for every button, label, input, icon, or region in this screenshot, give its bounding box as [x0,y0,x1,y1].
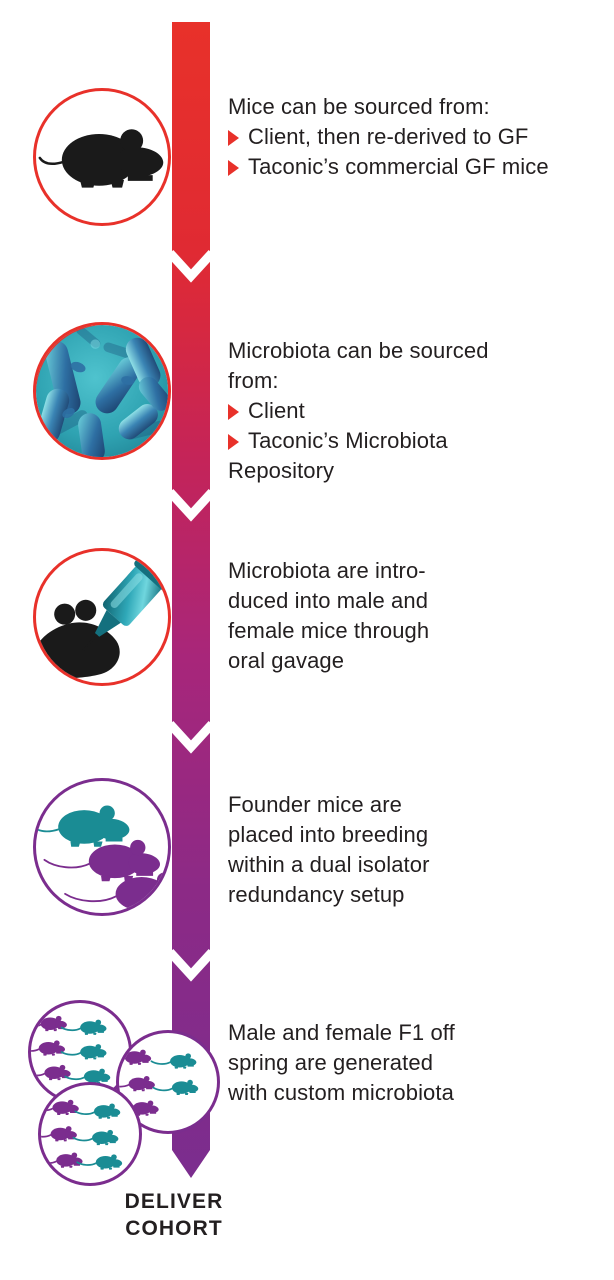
step-2-heading-line-1: Microbiota can be sourced [228,336,600,366]
triangle-bullet-icon [228,160,239,176]
step-2-bullet-1-label: Client [248,396,305,426]
caption-line-2: COHORT [0,1215,348,1242]
step-2-bullet-1: Client [228,396,600,426]
step-2-text: Microbiota can be sourced from: Client T… [228,336,600,486]
step-3-line-2: duced into male and [228,586,600,616]
triangle-bullet-icon [228,404,239,420]
step-5-line-1: Male and female F1 off [228,1018,600,1048]
step-4-line-2: placed into breeding [228,820,600,850]
step-4-line-1: Founder mice are [228,790,600,820]
step-1-heading: Mice can be sourced from: [228,92,600,122]
triangle-bullet-icon [228,434,239,450]
deliver-cohort-caption: DELIVER COHORT [0,1188,348,1242]
step-5-text: Male and female F1 off spring are genera… [228,1018,600,1108]
step-3-line-3: female mice through [228,616,600,646]
step-1-bullet-2: Taconic’s commercial GF mice [228,152,600,182]
step-2-bullet-2-label: Taconic’s Microbiota [248,426,448,456]
step-text-layer: Mice can be sourced from: Client, then r… [0,0,614,1280]
step-5-line-3: with custom microbiota [228,1078,600,1108]
step-2-bullet-2: Taconic’s Microbiota [228,426,600,456]
caption-line-1: DELIVER [0,1188,348,1215]
step-2-trailing-line: Repository [228,456,600,486]
step-3-text: Microbiota are intro- duced into male an… [228,556,600,676]
step-3-line-1: Microbiota are intro- [228,556,600,586]
step-3-line-4: oral gavage [228,646,600,676]
step-1-bullet-1-label: Client, then re-derived to GF [248,122,528,152]
step-1-bullet-1: Client, then re-derived to GF [228,122,600,152]
step-4-line-4: redundancy setup [228,880,600,910]
infographic-canvas: Mice can be sourced from: Client, then r… [0,0,614,1280]
step-5-line-2: spring are generated [228,1048,600,1078]
step-4-line-3: within a dual isolator [228,850,600,880]
step-1-text: Mice can be sourced from: Client, then r… [228,92,600,182]
triangle-bullet-icon [228,130,239,146]
step-2-heading-line-2: from: [228,366,600,396]
step-4-text: Founder mice are placed into breeding wi… [228,790,600,910]
step-1-bullet-2-label: Taconic’s commercial GF mice [248,152,549,182]
